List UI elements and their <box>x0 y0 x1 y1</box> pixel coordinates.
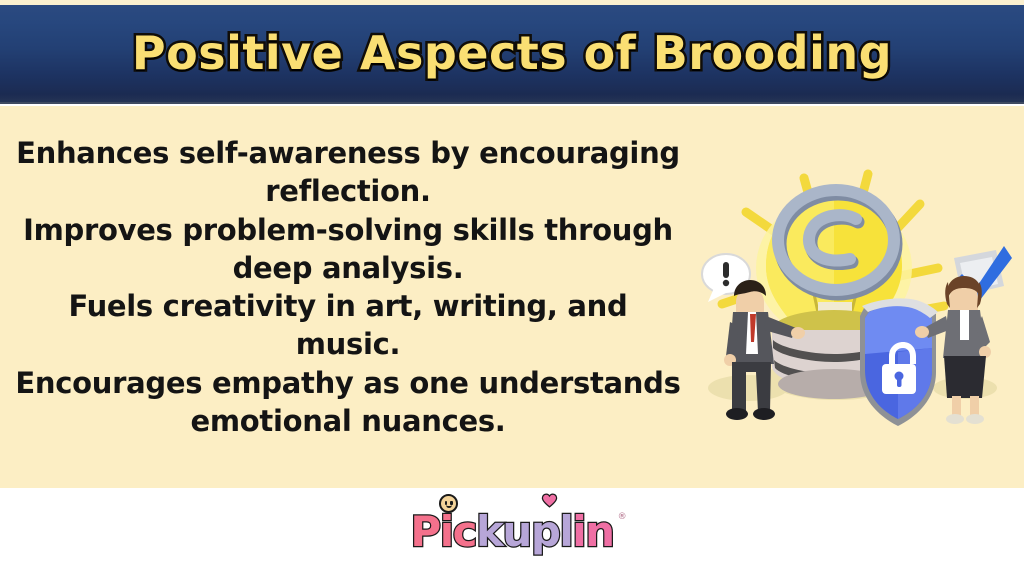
benefit-line: Fuels creativity in art, writing, and mu… <box>12 287 684 364</box>
benefit-line: Improves problem-solving skills through <box>12 211 684 249</box>
benefit-line: emotional nuances. <box>12 402 684 440</box>
page-title: Positive Aspects of Brooding <box>132 26 892 82</box>
title-banner: Positive Aspects of Brooding <box>0 5 1024 104</box>
logo-part-1: Pic <box>410 507 476 556</box>
benefit-line: Encourages empathy as one understands <box>12 364 684 402</box>
heart-icon <box>541 492 558 509</box>
content-area: Enhances self-awareness by encouraging r… <box>0 106 1024 488</box>
footer-logo-area: Pickuplin ® <box>0 488 1024 576</box>
shield-with-padlock-icon <box>860 298 938 426</box>
benefit-line: deep analysis. <box>12 249 684 287</box>
registered-trademark-mark: ® <box>618 513 627 522</box>
logo-part-3: in <box>572 507 613 556</box>
brand-logo[interactable]: Pickuplin ® <box>410 511 613 553</box>
benefit-line: Enhances self-awareness by encouraging <box>12 134 684 172</box>
benefit-line: reflection. <box>12 172 684 210</box>
illustration <box>686 116 1016 446</box>
logo-part-2: kupl <box>476 507 572 556</box>
slide: Positive Aspects of Brooding Enhances se… <box>0 0 1024 576</box>
ground-shadow <box>708 375 788 401</box>
benefits-text-block: Enhances self-awareness by encouraging r… <box>12 134 684 440</box>
